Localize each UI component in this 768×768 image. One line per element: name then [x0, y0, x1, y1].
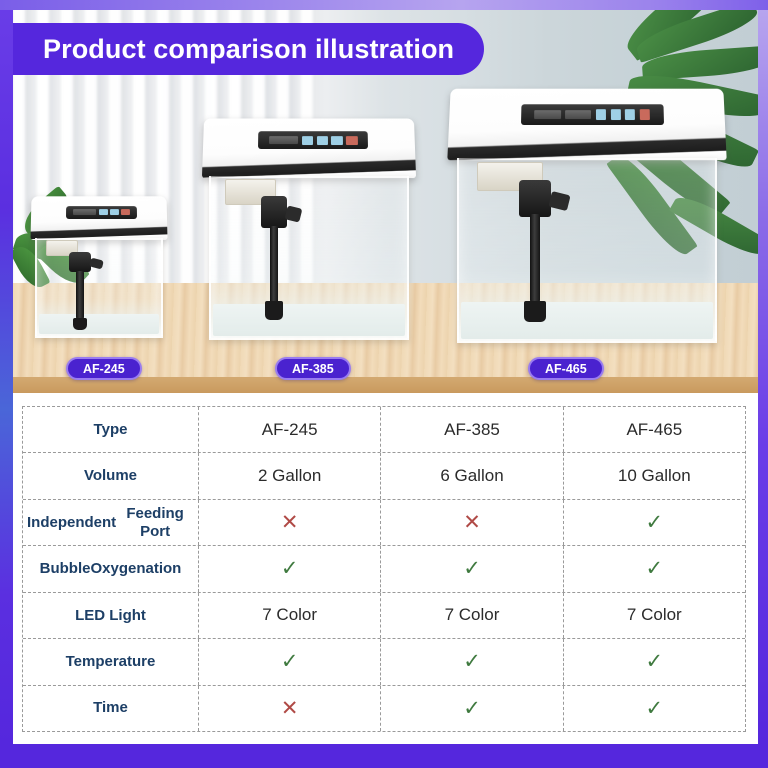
water-pump	[69, 252, 91, 330]
page-title-banner: Product comparison illustration	[13, 23, 484, 75]
row-label: Type	[23, 407, 199, 452]
check-icon: ✓	[646, 558, 664, 579]
row-label-line: LED Light	[75, 607, 146, 625]
table-row: LED Light7 Color7 Color7 Color	[23, 593, 745, 639]
comparison-table: TypeAF-245AF-385AF-465Volume2 Gallon6 Ga…	[22, 406, 746, 732]
row-label-line: Oxygenation	[90, 560, 181, 578]
table-cell: ✕	[381, 500, 563, 545]
table-cell: 2 Gallon	[199, 453, 381, 498]
table-cell: 7 Color	[199, 593, 381, 638]
frame-left-strip	[0, 0, 13, 744]
row-label-line: Independent	[27, 514, 116, 532]
table-cell: AF-465	[564, 407, 745, 452]
tank-lid	[31, 196, 168, 240]
frame-right-strip	[758, 0, 768, 744]
cross-icon: ✕	[281, 698, 299, 719]
table-cell: ✕	[199, 500, 381, 545]
table-row: Volume2 Gallon6 Gallon10 Gallon	[23, 453, 745, 499]
cross-icon: ✕	[463, 512, 481, 533]
row-label: Time	[23, 686, 199, 731]
check-icon: ✓	[646, 651, 664, 672]
tank-glass	[35, 238, 163, 338]
aquarium-af-245	[35, 196, 163, 338]
check-icon: ✓	[646, 512, 664, 533]
check-icon: ✓	[463, 698, 481, 719]
check-icon: ✓	[281, 651, 299, 672]
table-cell: ✓	[564, 686, 745, 731]
cross-icon: ✕	[281, 512, 299, 533]
check-icon: ✓	[463, 651, 481, 672]
aquarium-af-465	[457, 88, 717, 343]
table-row: IndependentFeeding Port✕✕✓	[23, 500, 745, 546]
page-title: Product comparison illustration	[43, 34, 454, 65]
row-label: LED Light	[23, 593, 199, 638]
water-pump	[261, 196, 287, 320]
product-pill-af-385: AF-385	[275, 357, 351, 380]
table-row: BubbleOxygenation✓✓✓	[23, 546, 745, 592]
table-row: TypeAF-245AF-385AF-465	[23, 407, 745, 453]
row-label: IndependentFeeding Port	[23, 500, 199, 545]
check-icon: ✓	[463, 558, 481, 579]
row-label-line: Type	[94, 421, 128, 439]
water-pump	[519, 180, 551, 322]
row-label: BubbleOxygenation	[23, 546, 199, 591]
control-panel	[521, 104, 664, 125]
table-cell: ✓	[381, 686, 563, 731]
table-cell: AF-385	[381, 407, 563, 452]
table-cell: 10 Gallon	[564, 453, 745, 498]
table-cell: ✕	[199, 686, 381, 731]
table-cell: ✓	[564, 546, 745, 591]
product-pill-af-245: AF-245	[66, 357, 142, 380]
table-cell: 6 Gallon	[381, 453, 563, 498]
table-cell: ✓	[564, 500, 745, 545]
row-label-line: Time	[93, 699, 128, 717]
table-cell: ✓	[381, 546, 563, 591]
table-row: Time✕✓✓	[23, 686, 745, 731]
table-cell: 7 Color	[381, 593, 563, 638]
product-pill-af-465: AF-465	[528, 357, 604, 380]
hero-photo: Product comparison illustration AF-245 A…	[13, 8, 758, 393]
check-icon: ✓	[646, 698, 664, 719]
row-label: Temperature	[23, 639, 199, 684]
product-comparison-page: Product comparison illustration AF-245 A…	[0, 0, 768, 768]
table-cell: ✓	[564, 639, 745, 684]
row-label-line: Feeding Port	[116, 505, 194, 540]
table-cell: ✓	[381, 639, 563, 684]
aquarium-af-385	[209, 118, 409, 340]
table-row: Temperature✓✓✓	[23, 639, 745, 685]
row-label-line: Temperature	[66, 653, 156, 671]
tank-lid	[448, 89, 727, 160]
tank-glass	[457, 158, 717, 343]
row-label-line: Volume	[84, 467, 137, 485]
table-cell: ✓	[199, 639, 381, 684]
table-cell: 7 Color	[564, 593, 745, 638]
row-label: Volume	[23, 453, 199, 498]
check-icon: ✓	[281, 558, 299, 579]
frame-top-strip	[0, 0, 768, 10]
tank-glass	[209, 176, 409, 340]
table-cell: ✓	[199, 546, 381, 591]
table-cell: AF-245	[199, 407, 381, 452]
tank-lid	[202, 119, 416, 179]
control-panel	[258, 131, 368, 149]
row-label-line: Bubble	[40, 560, 91, 578]
frame-bottom-bar	[0, 744, 768, 768]
control-panel	[66, 206, 137, 219]
